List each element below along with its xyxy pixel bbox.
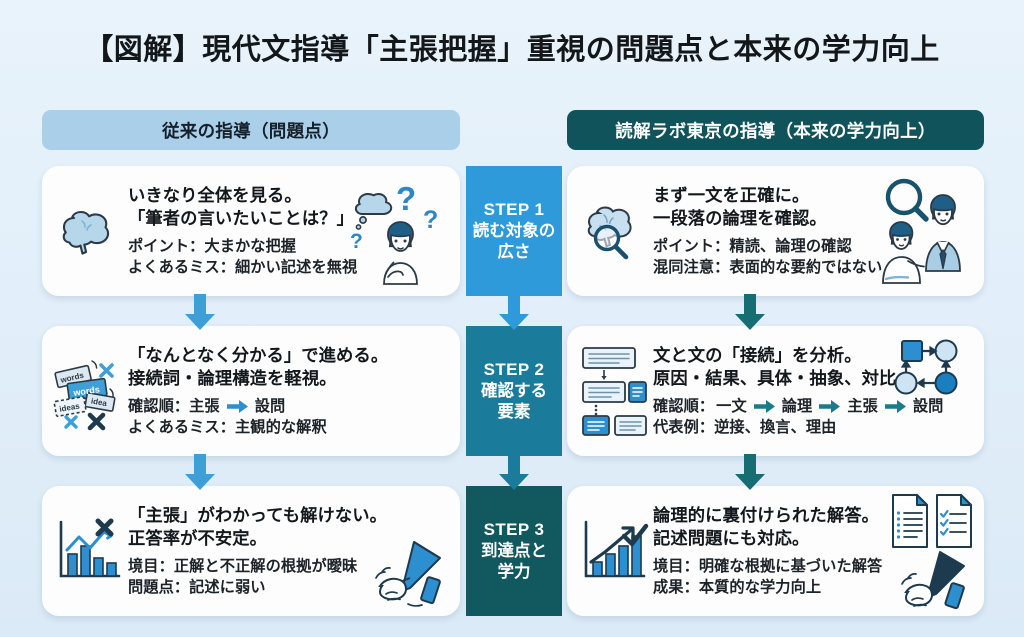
step-2-label-line1: 確認する xyxy=(481,381,547,401)
column-header-right: 読解ラボ東京の指導（本来の学力向上） xyxy=(567,110,984,150)
brain-icon xyxy=(52,177,126,286)
right-card-2-headline-1: 文と文の「接続」を分析。 xyxy=(653,344,974,367)
brain-magnifier-icon xyxy=(577,177,651,286)
left-card-3-headline-2: 正答率が不安定。 xyxy=(128,527,450,550)
infographic-root: 【図解】現代文指導「主張把握」重視の問題点と本来の学力向上 従来の指導（問題点）… xyxy=(0,0,1024,637)
column-header-right-label: 読解ラボ東京の指導（本来の学力向上） xyxy=(615,118,935,143)
left-card-2-sub-1-pre: 確認順：主張 xyxy=(128,396,220,418)
right-card-2-seq-0: 一文 xyxy=(716,396,747,418)
left-card-2-headline-1: 「なんとなく分かる」で進める。 xyxy=(128,344,450,367)
left-card-3-sub-1: 境目：正解と不正解の根拠が曖昧 xyxy=(128,556,450,578)
step-1-label-line2: 広さ xyxy=(498,242,531,262)
step-badge-2: STEP 2 確認する 要素 xyxy=(466,326,562,456)
right-card-1-headline-1: まず一文を正確に。 xyxy=(653,184,974,207)
column-header-left-label: 従来の指導（問題点） xyxy=(162,118,340,143)
sequence-arrow-icon xyxy=(819,400,840,413)
right-card-1-headline-2: 一段落の論理を確認。 xyxy=(653,207,974,230)
step-2-label-line2: 要素 xyxy=(498,402,531,422)
right-card-2-headline-2: 原因・結果、具体・抽象、対比。 xyxy=(653,367,974,390)
left-flow-arrow-2 xyxy=(185,454,215,490)
right-card-2-seq-3: 設問 xyxy=(913,396,944,418)
left-card-1-sub-1: ポイント：大まかな把握 xyxy=(128,236,450,258)
step-badge-1: STEP 1 読む対象の 広さ xyxy=(466,166,562,296)
step-1-label-line1: 読む対象の xyxy=(473,221,556,241)
page-title: 【図解】現代文指導「主張把握」重視の問題点と本来の学力向上 xyxy=(0,26,1024,68)
scattered-word-cards-icon: words words idea ideas xyxy=(52,337,126,446)
left-card-3-sub-2: 問題点：記述に弱い xyxy=(128,577,450,599)
right-card-2-sub-2: 代表例：逆接、換言、理由 xyxy=(653,417,974,439)
declining-bar-chart-x-icon xyxy=(52,497,126,606)
column-header-left: 従来の指導（問題点） xyxy=(42,110,460,150)
left-card-2-sub-1-post: 設問 xyxy=(255,396,286,418)
document-flow-icon xyxy=(577,337,651,446)
right-flow-arrow-2 xyxy=(735,454,765,490)
right-card-2: 文と文の「接続」を分析。 原因・結果、具体・抽象、対比。 確認順： 一文 論理 … xyxy=(567,326,984,456)
right-card-2-seq-2: 主張 xyxy=(847,396,878,418)
left-flow-arrow-1 xyxy=(185,294,215,330)
center-flow-arrow-2 xyxy=(499,454,529,490)
sequence-arrow-icon xyxy=(885,400,906,413)
right-card-1-sub-2: 混同注意：表面的な要約ではない xyxy=(653,257,974,279)
left-card-1-sub-2: よくあるミス：細かい記述を無視 xyxy=(128,257,450,279)
step-badge-3: STEP 3 到達点と 学力 xyxy=(466,486,562,616)
left-card-1: いきなり全体を見る。 「筆者の言いたいことは？」 ポイント：大まかな把握 よくあ… xyxy=(42,166,460,296)
left-card-2: words words idea ideas 「なんとなく分かる」で進める。 接… xyxy=(42,326,460,456)
rising-bar-chart-check-icon xyxy=(577,497,651,606)
step-2-number: STEP 2 xyxy=(484,360,545,380)
left-card-1-headline-1: いきなり全体を見る。 xyxy=(128,184,450,207)
step-1-number: STEP 1 xyxy=(484,200,545,220)
right-card-2-seq-1: 論理 xyxy=(782,396,813,418)
sequence-arrow-icon xyxy=(754,400,775,413)
center-flow-arrow-1 xyxy=(499,294,529,330)
left-card-3: 「主張」がわかっても解けない。 正答率が不安定。 境目：正解と不正解の根拠が曖昧… xyxy=(42,486,460,616)
hand-writing-pen-icon xyxy=(886,550,980,614)
right-card-1-sub-1: ポイント：精読、論理の確認 xyxy=(653,236,974,258)
left-card-2-sub-2: よくあるミス：主観的な解釈 xyxy=(128,417,450,439)
right-flow-arrow-1 xyxy=(735,294,765,330)
step-3-label-line1: 到達点と xyxy=(481,541,547,561)
left-card-3-headline-1: 「主張」がわかっても解けない。 xyxy=(128,504,450,527)
documents-checklist-icon xyxy=(890,492,976,550)
right-card-2-sub-1: 確認順： 一文 論理 主張 設問 xyxy=(653,396,974,418)
right-card-1: まず一文を正確に。 一段落の論理を確認。 ポイント：精読、論理の確認 混同注意：… xyxy=(567,166,984,296)
left-card-2-headline-2: 接続詞・論理構造を軽視。 xyxy=(128,367,450,390)
right-card-2-sub-prefix: 確認順： xyxy=(653,396,714,418)
step-3-number: STEP 3 xyxy=(484,520,545,540)
sequence-arrow-icon xyxy=(227,400,248,413)
right-card-3: 論理的に裏付けられた解答。 記述問題にも対応。 境目：明確な根拠に基づいた解答 … xyxy=(567,486,984,616)
step-3-label-line2: 学力 xyxy=(498,562,531,582)
left-card-2-sub-1: 確認順：主張 設問 xyxy=(128,396,450,418)
left-card-1-headline-2: 「筆者の言いたいことは？」 xyxy=(128,207,450,230)
